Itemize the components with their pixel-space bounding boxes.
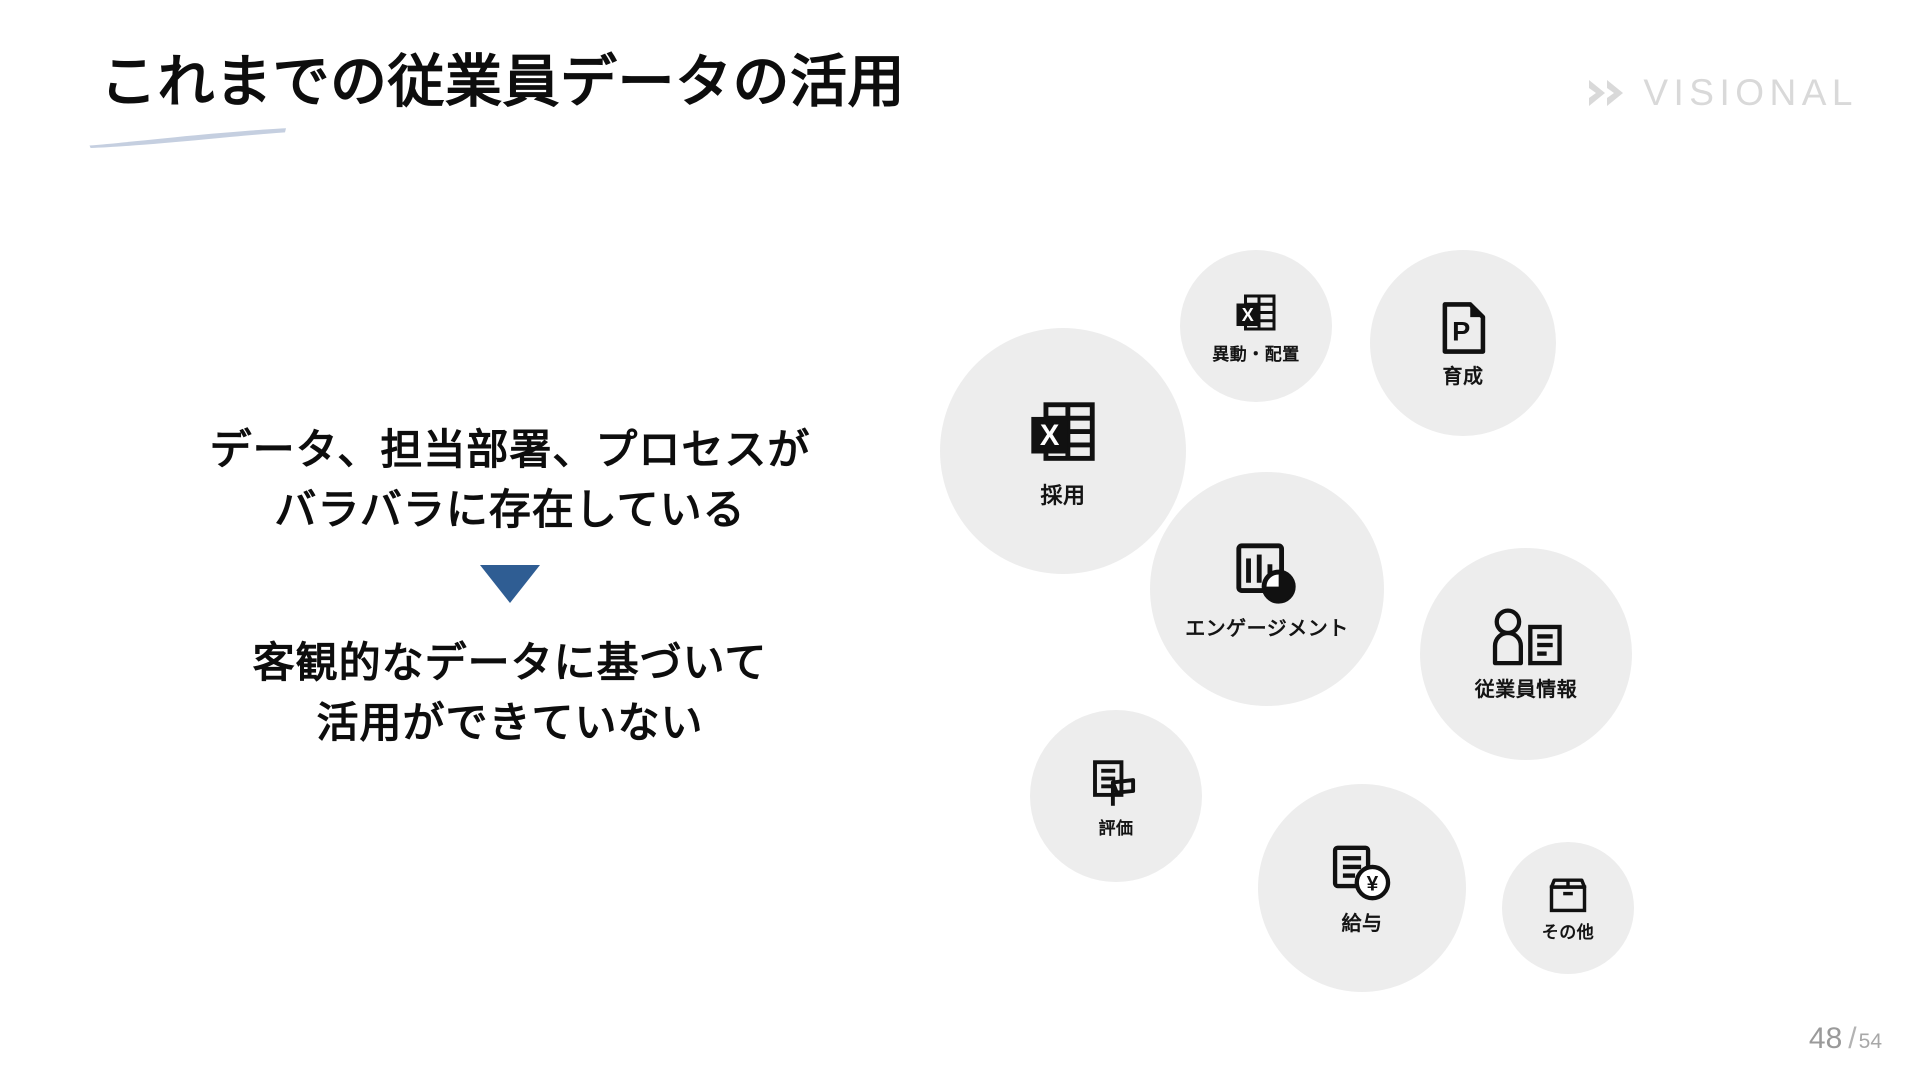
bubble-label: その他 — [1542, 924, 1595, 941]
svg-text:¥: ¥ — [1367, 872, 1379, 895]
svg-text:X: X — [1242, 304, 1254, 324]
page-current: 48 — [1809, 1022, 1842, 1056]
excel-spreadsheet-icon: X — [1024, 395, 1102, 473]
bubble-label: 評価 — [1099, 820, 1134, 837]
bubble-other[interactable]: その他 — [1502, 842, 1634, 974]
result-line-2: 活用ができていない — [150, 693, 870, 753]
bubble-label: エンゲージメント — [1185, 619, 1349, 639]
bubble-label: 給与 — [1342, 914, 1383, 934]
svg-text:P: P — [1452, 316, 1470, 347]
bubble-develop[interactable]: P 育成 — [1370, 250, 1556, 436]
page-separator: / — [1848, 1022, 1856, 1056]
svg-text:X: X — [1040, 420, 1060, 452]
bubble-label: 従業員情報 — [1475, 680, 1578, 700]
bubble-recruit[interactable]: X 採用 — [940, 328, 1186, 574]
bubble-label: 育成 — [1443, 367, 1484, 387]
powerpoint-document-icon: P — [1434, 299, 1492, 357]
message-block: データ、担当部署、プロセスが バラバラに存在している 客観的なデータに基づいて … — [150, 420, 870, 753]
bubble-label: 異動・配置 — [1212, 346, 1300, 363]
bubble-employee-info[interactable]: 従業員情報 — [1420, 548, 1632, 760]
document-yen-coin-icon: ¥ — [1329, 842, 1395, 904]
double-chevron-right-icon — [1587, 78, 1631, 108]
title-underline-brushstroke — [88, 126, 288, 148]
page-total: 54 — [1859, 1030, 1882, 1054]
data-silo-bubble-cluster: X 採用 X 異動・配置 — [940, 250, 1760, 970]
visional-wordmark: VISIONAL — [1643, 74, 1858, 111]
document-hand-icon — [1088, 756, 1144, 812]
bubble-engagement[interactable]: エンゲージメント — [1150, 472, 1384, 706]
page-number: 48 / 54 — [1809, 1022, 1882, 1056]
bar-chart-pie-icon — [1232, 539, 1302, 609]
excel-spreadsheet-icon: X — [1232, 290, 1280, 338]
triangle-down-icon — [480, 565, 540, 603]
problem-line-1: データ、担当部署、プロセスが — [150, 420, 870, 480]
bubble-evaluation[interactable]: 評価 — [1030, 710, 1202, 882]
page-title: これまでの従業員データの活用 — [100, 48, 905, 116]
result-line-1: 客観的なデータに基づいて — [150, 633, 870, 693]
bubble-salary[interactable]: ¥ 給与 — [1258, 784, 1466, 992]
bubble-transfer[interactable]: X 異動・配置 — [1180, 250, 1332, 402]
bubble-label: 採用 — [1040, 485, 1085, 507]
archive-box-icon — [1546, 876, 1590, 916]
problem-line-2: バラバラに存在している — [150, 480, 870, 540]
person-document-icon — [1489, 608, 1563, 670]
visional-logo: VISIONAL — [1587, 74, 1858, 111]
